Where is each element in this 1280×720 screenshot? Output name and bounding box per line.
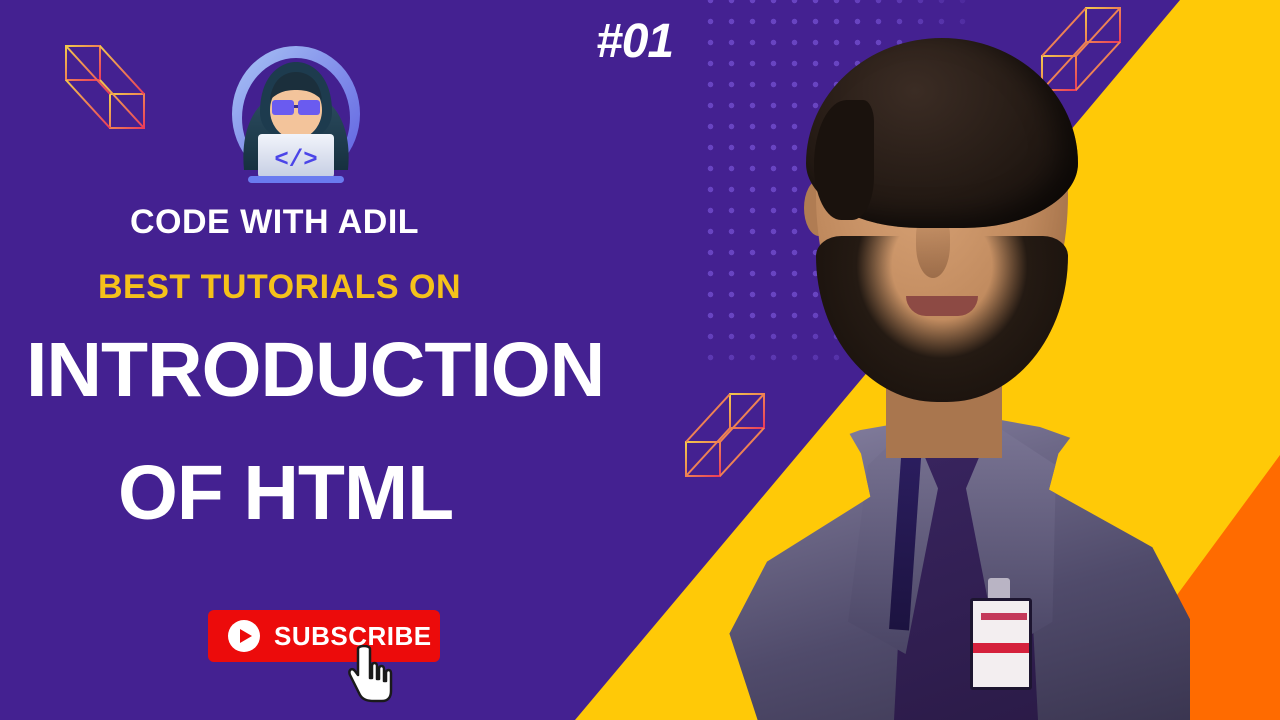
tagline: BEST TUTORIALS ON [98, 268, 461, 307]
play-triangle [240, 629, 252, 643]
play-icon [228, 620, 260, 652]
channel-logo: </> [210, 38, 382, 188]
youtube-thumbnail: </> #01 CODE WITH ADIL BEST TUTORIALS ON… [0, 0, 1280, 720]
id-badge [970, 598, 1032, 690]
prism-mid-left-icon [678, 392, 778, 482]
hair [806, 38, 1078, 228]
mouth [906, 296, 978, 316]
channel-name: CODE WITH ADIL [130, 203, 419, 242]
title-line-1: INTRODUCTION [26, 332, 604, 409]
subscribe-button[interactable]: SUBSCRIBE [208, 610, 440, 662]
episode-number-badge: #01 [596, 14, 673, 69]
logo-code-symbol: </> [274, 147, 317, 174]
laptop-base [248, 176, 344, 183]
prism-top-left-icon [58, 44, 158, 134]
title-line-2: OF HTML [118, 455, 453, 532]
hand-cursor-icon [348, 645, 396, 703]
